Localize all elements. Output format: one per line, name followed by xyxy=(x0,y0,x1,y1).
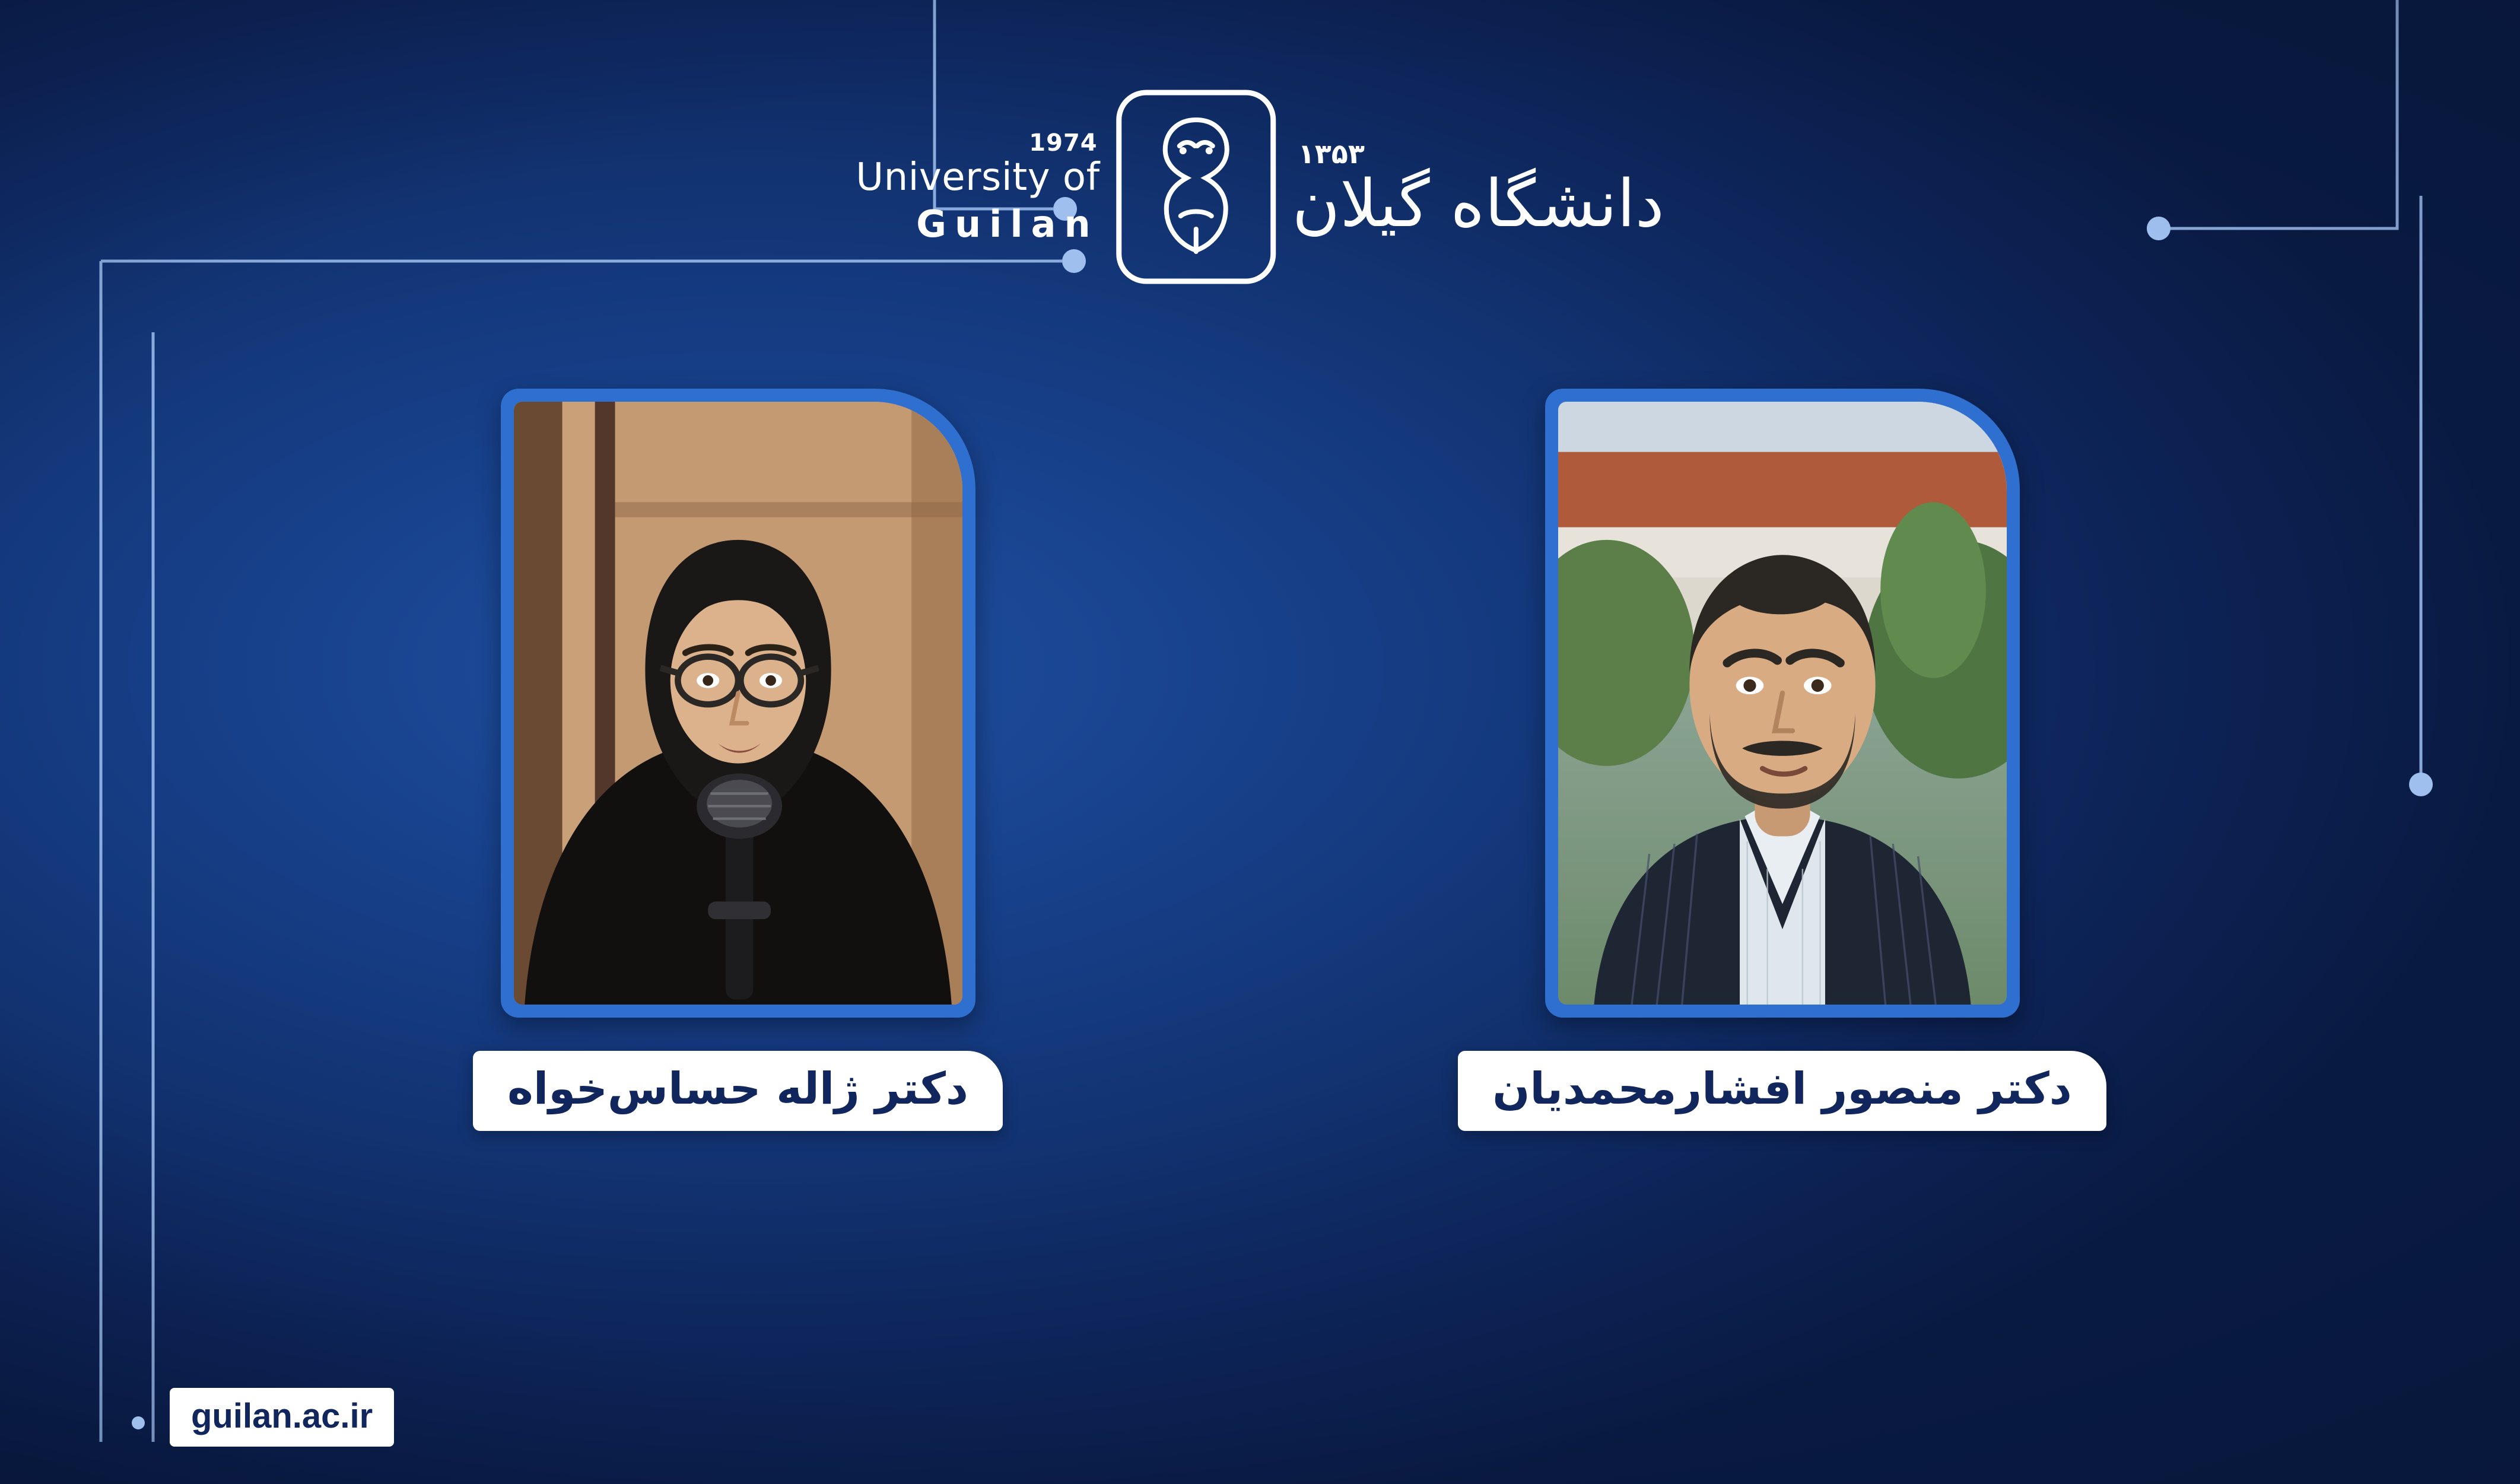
logo-line-guilan: Guilan xyxy=(916,206,1099,243)
person-name-plate: دکتر ژاله حساس‌خواه xyxy=(473,1051,1003,1131)
photo-frame xyxy=(1545,389,2020,1018)
photo-frame xyxy=(501,389,975,1018)
university-logo: 1974 University of Guilan xyxy=(856,89,1664,285)
logo-english-text: 1974 University of Guilan xyxy=(856,131,1099,243)
person-card-hassaskhah: دکتر ژاله حساس‌خواه xyxy=(495,389,981,1131)
person-name-plate: دکتر منصور افشارمحمدیان xyxy=(1458,1051,2106,1131)
poster-canvas: 1974 University of Guilan xyxy=(0,0,2520,1484)
logo-persian-text: ۱۳۵۳ دانشگاه گیلان xyxy=(1292,138,1664,236)
logo-line-university-of: University of xyxy=(856,158,1099,196)
person-card-afshar-mohammadian: دکتر منصور افشارمحمدیان xyxy=(1539,389,2026,1131)
logo-year-en: 1974 xyxy=(1029,131,1097,155)
people-row: دکتر منصور افشارمحمدیان xyxy=(0,389,2520,1131)
website-url[interactable]: guilan.ac.ir xyxy=(170,1388,394,1447)
logo-year-fa: ۱۳۵۳ xyxy=(1298,138,1365,170)
logo-name-fa: دانشگاه گیلان xyxy=(1292,171,1664,236)
url-bullet-icon xyxy=(132,1416,145,1429)
portrait-mansour-afshar-mohammadian xyxy=(1558,402,2007,1005)
guilan-university-emblem-icon xyxy=(1116,89,1277,285)
portrait-zhaleh-hassaskhah xyxy=(514,402,962,1005)
